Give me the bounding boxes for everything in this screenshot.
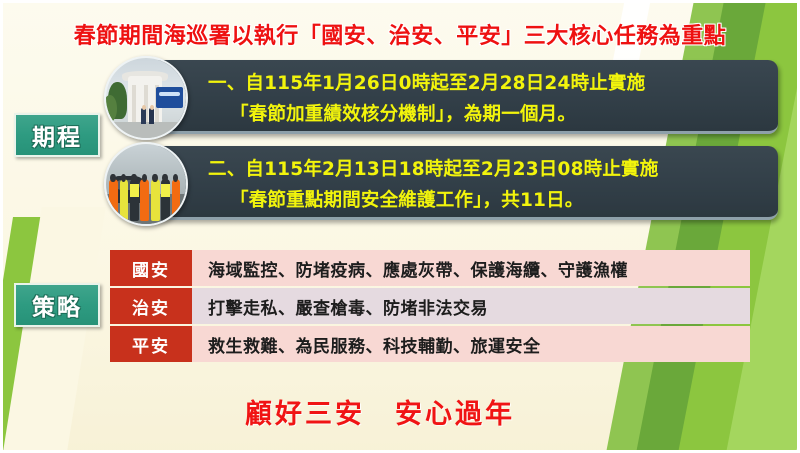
poster-frame <box>0 0 800 453</box>
poster-canvas: 春節期間海巡署以執行「國安、治安、平安」三大核心任務為重點 期程 一、自115年… <box>0 0 800 453</box>
